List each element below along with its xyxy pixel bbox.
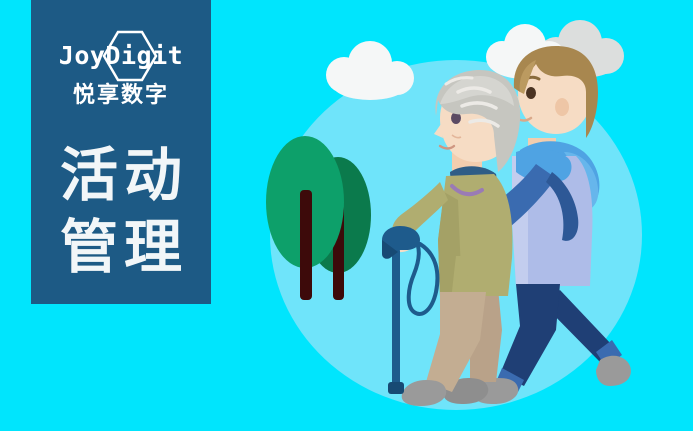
page-title-line-2: 管理 (31, 212, 211, 284)
poster-canvas: JoyDigit 悦享数字 活动 管理 (0, 0, 693, 431)
brand-logo: JoyDigit 悦享数字 (31, 28, 211, 124)
page-title: 活动 管理 (31, 140, 211, 284)
brand-wordmark: JoyDigit (31, 42, 211, 70)
left-title-panel: JoyDigit 悦享数字 活动 管理 (31, 0, 211, 304)
brand-chinese-name: 悦享数字 (31, 80, 211, 110)
cloud-left (326, 41, 414, 100)
page-title-line-1: 活动 (31, 140, 211, 212)
